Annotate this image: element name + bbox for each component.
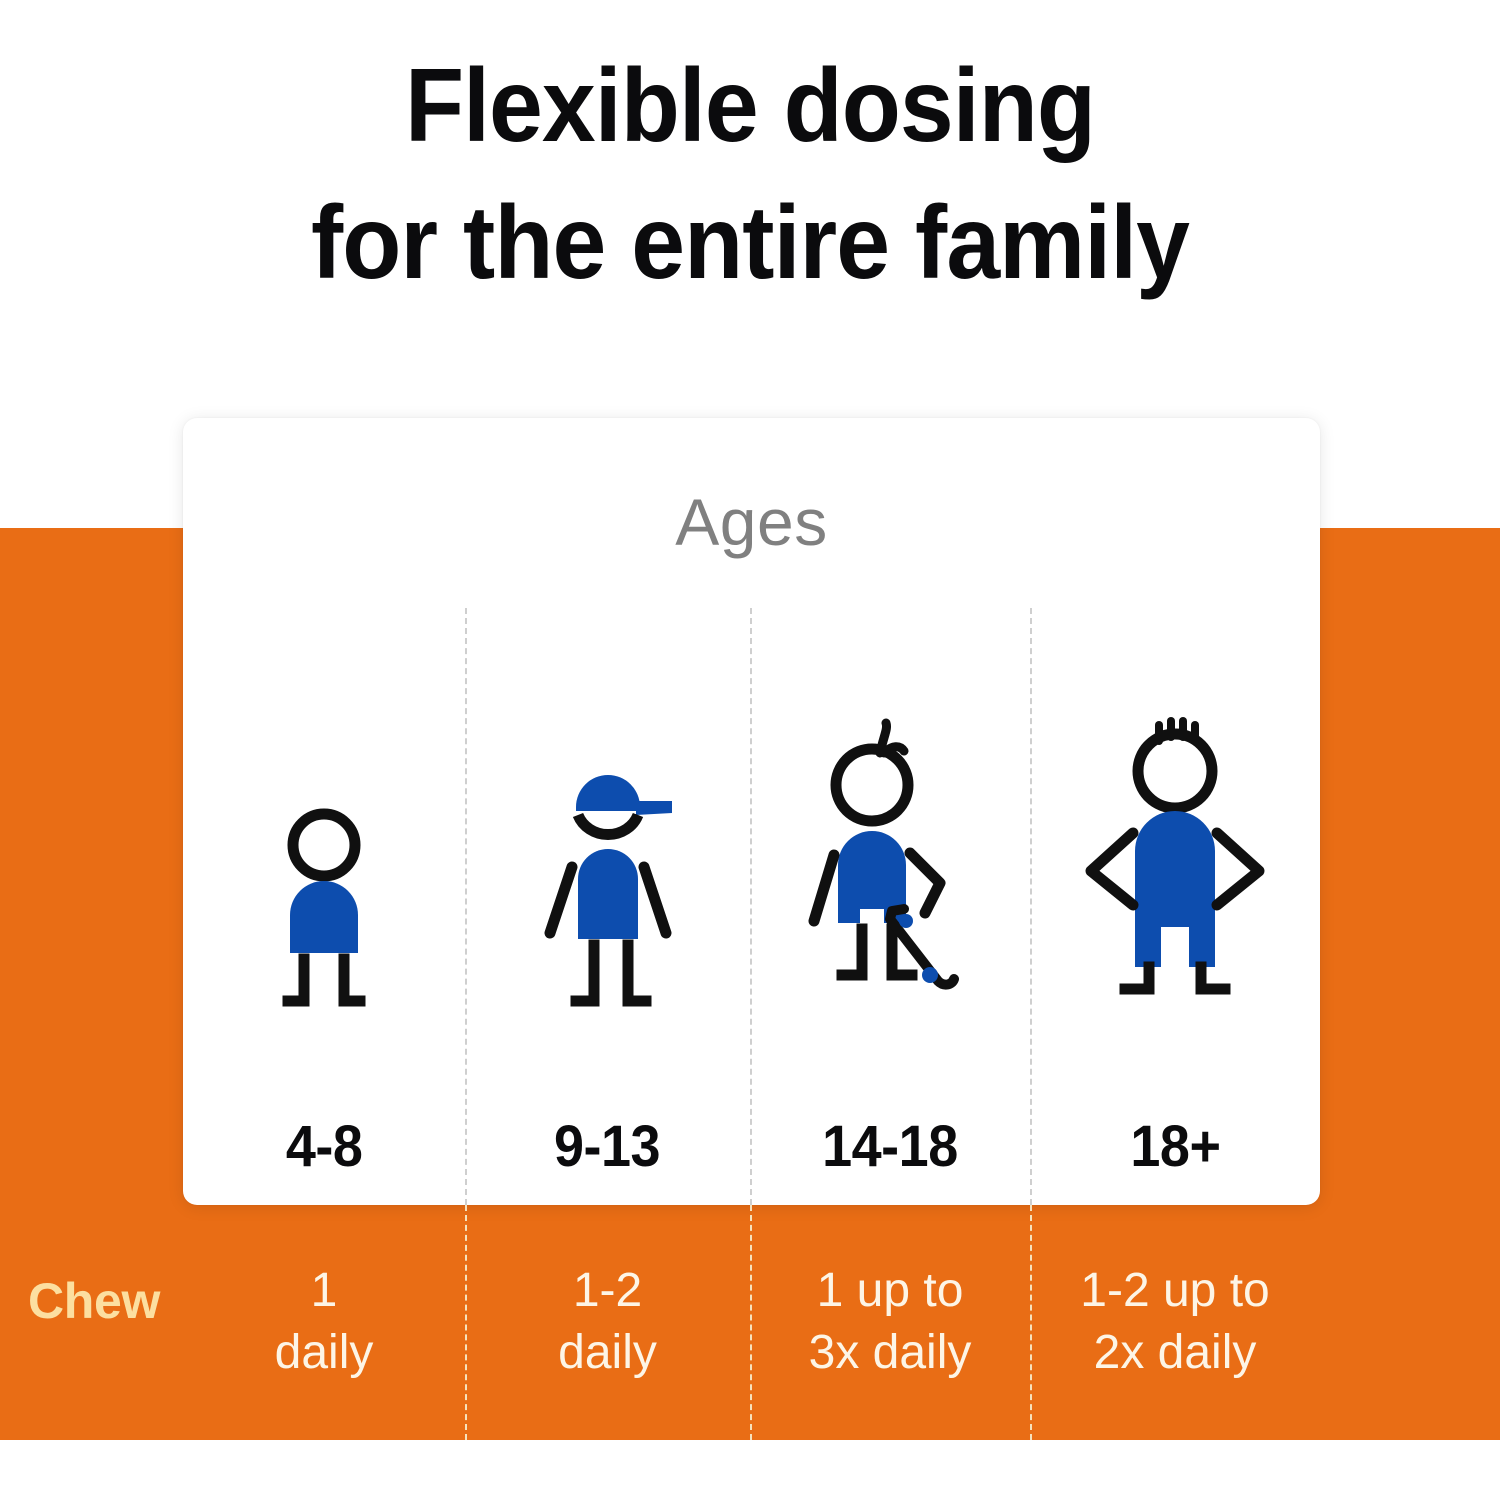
dose-cell-14-18: 1 up to 3x daily <box>750 1232 1030 1412</box>
teen-with-hockey-stick-figure-icon <box>792 683 988 1013</box>
page-title: Flexible dosing for the entire family <box>53 38 1448 313</box>
dosing-row: 1 daily 1-2 daily 1 up to 3x daily 1-2 u… <box>183 1232 1320 1412</box>
dose-line-3b: 3x daily <box>809 1322 972 1384</box>
title-line-1: Flexible dosing <box>53 38 1448 175</box>
age-column-18plus: 18+ <box>1030 620 1320 1180</box>
age-column-14-18: 14-18 <box>750 620 1030 1180</box>
dose-line-1b: daily <box>275 1322 374 1384</box>
infographic-page: Flexible dosing for the entire family Ag… <box>0 0 1500 1500</box>
age-label-2: 9-13 <box>554 1113 660 1180</box>
age-label-4: 18+ <box>1130 1113 1220 1180</box>
adult-hands-on-hips-figure-icon <box>1077 683 1273 1013</box>
dose-line-3a: 1 up to <box>817 1260 964 1322</box>
dose-line-2a: 1-2 <box>573 1260 642 1322</box>
chew-row-label: Chew <box>28 1272 160 1330</box>
age-label-3: 14-18 <box>822 1113 958 1180</box>
age-column-4-8: 4-8 <box>183 620 465 1180</box>
age-columns: 4-8 9-13 <box>183 620 1320 1180</box>
dose-line-2b: daily <box>558 1322 657 1384</box>
title-line-2: for the entire family <box>53 175 1448 312</box>
age-column-9-13: 9-13 <box>465 620 750 1180</box>
dose-cell-18plus: 1-2 up to 2x daily <box>1030 1232 1320 1412</box>
child-with-cap-figure-icon <box>524 683 692 1013</box>
dose-line-1a: 1 <box>311 1260 338 1322</box>
dose-line-4b: 2x daily <box>1094 1322 1257 1384</box>
dose-cell-9-13: 1-2 daily <box>465 1232 750 1412</box>
ages-header-label: Ages <box>183 484 1320 560</box>
dose-line-4a: 1-2 up to <box>1080 1260 1269 1322</box>
dose-cell-4-8: 1 daily <box>183 1232 465 1412</box>
toddler-figure-icon <box>264 683 384 1013</box>
age-label-1: 4-8 <box>286 1113 363 1180</box>
